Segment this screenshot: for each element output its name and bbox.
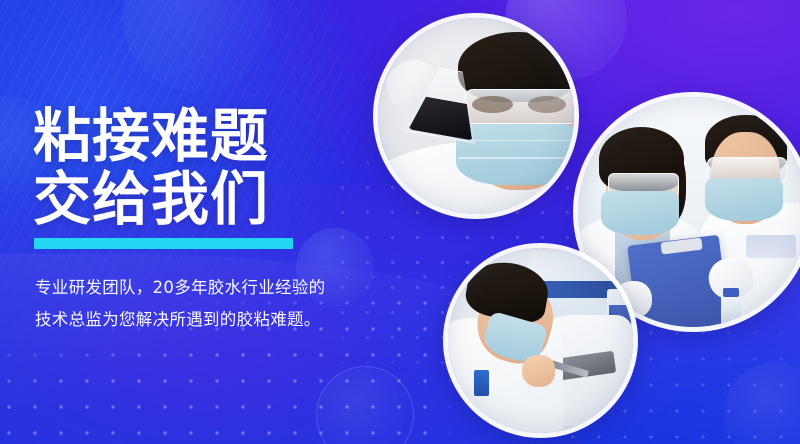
headline-line-1: 粘接难题 xyxy=(33,105,269,167)
subtitle-line-2: 技术总监为您解决所遇到的胶粘难题。 xyxy=(35,304,321,336)
subtitle-line-1: 专业研发团队，20多年胶水行业经验的 xyxy=(35,272,325,304)
photo-chemist-with-flask xyxy=(378,18,574,214)
copy-block: 粘接难题 交给我们 专业研发团队，20多年胶水行业经验的 技术总监为您解决所遇到… xyxy=(0,0,360,444)
headline-underline-bar xyxy=(34,238,293,249)
headline-line-2: 交给我们 xyxy=(33,168,269,230)
photo-vignette xyxy=(378,18,574,214)
promo-banner: 粘接难题 交给我们 专业研发团队，20多年胶水行业经验的 技术总监为您解决所遇到… xyxy=(0,0,800,444)
photo-technician-applying-adhesive xyxy=(448,248,633,433)
photo-vignette xyxy=(448,248,633,433)
